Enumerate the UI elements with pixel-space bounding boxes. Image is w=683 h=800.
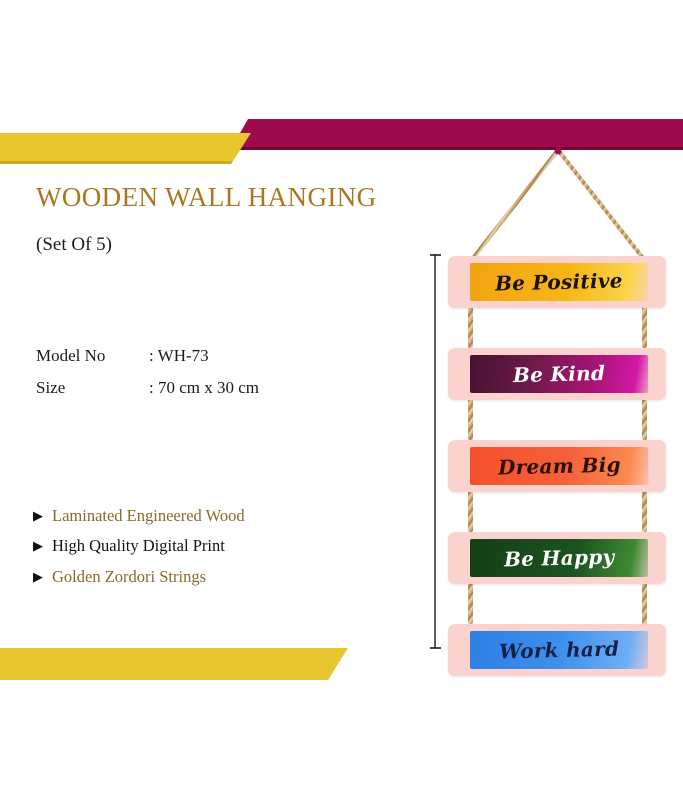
banner-gold-shadow bbox=[0, 161, 233, 164]
spec-label: Model No bbox=[36, 345, 149, 368]
list-item: ▶ High Quality Digital Print bbox=[33, 535, 245, 557]
spec-row: Size : 70 cm x 30 cm bbox=[36, 377, 259, 400]
list-item: ▶ Golden Zordori Strings bbox=[33, 566, 245, 588]
product-illustration: Be Positive Be Kind Dream Big Be Happy W… bbox=[430, 140, 683, 670]
banner-gold-band-bottom bbox=[0, 648, 348, 680]
bottom-banner bbox=[0, 648, 683, 690]
triangle-right-icon: ▶ bbox=[33, 570, 43, 583]
spec-value: : 70 cm x 30 cm bbox=[149, 377, 259, 400]
triangle-right-icon: ▶ bbox=[33, 539, 43, 552]
page-subtitle: (Set Of 5) bbox=[36, 234, 112, 256]
banner-gold-band bbox=[0, 133, 251, 161]
page-title: WOODEN WALL HANGING bbox=[36, 182, 377, 213]
spec-value: : WH-73 bbox=[149, 345, 259, 368]
spec-label: Size bbox=[36, 377, 149, 400]
specs-list: Model No : WH-73 Size : 70 cm x 30 cm bbox=[36, 345, 259, 409]
list-item: ▶ Laminated Engineered Wood bbox=[33, 505, 245, 527]
feature-label: Laminated Engineered Wood bbox=[52, 505, 245, 527]
features-list: ▶ Laminated Engineered Wood ▶ High Quali… bbox=[33, 505, 245, 596]
feature-label: Golden Zordori Strings bbox=[52, 566, 206, 588]
dimension-lines bbox=[430, 140, 683, 670]
feature-label: High Quality Digital Print bbox=[52, 535, 225, 557]
spec-row: Model No : WH-73 bbox=[36, 345, 259, 368]
triangle-right-icon: ▶ bbox=[33, 509, 43, 522]
